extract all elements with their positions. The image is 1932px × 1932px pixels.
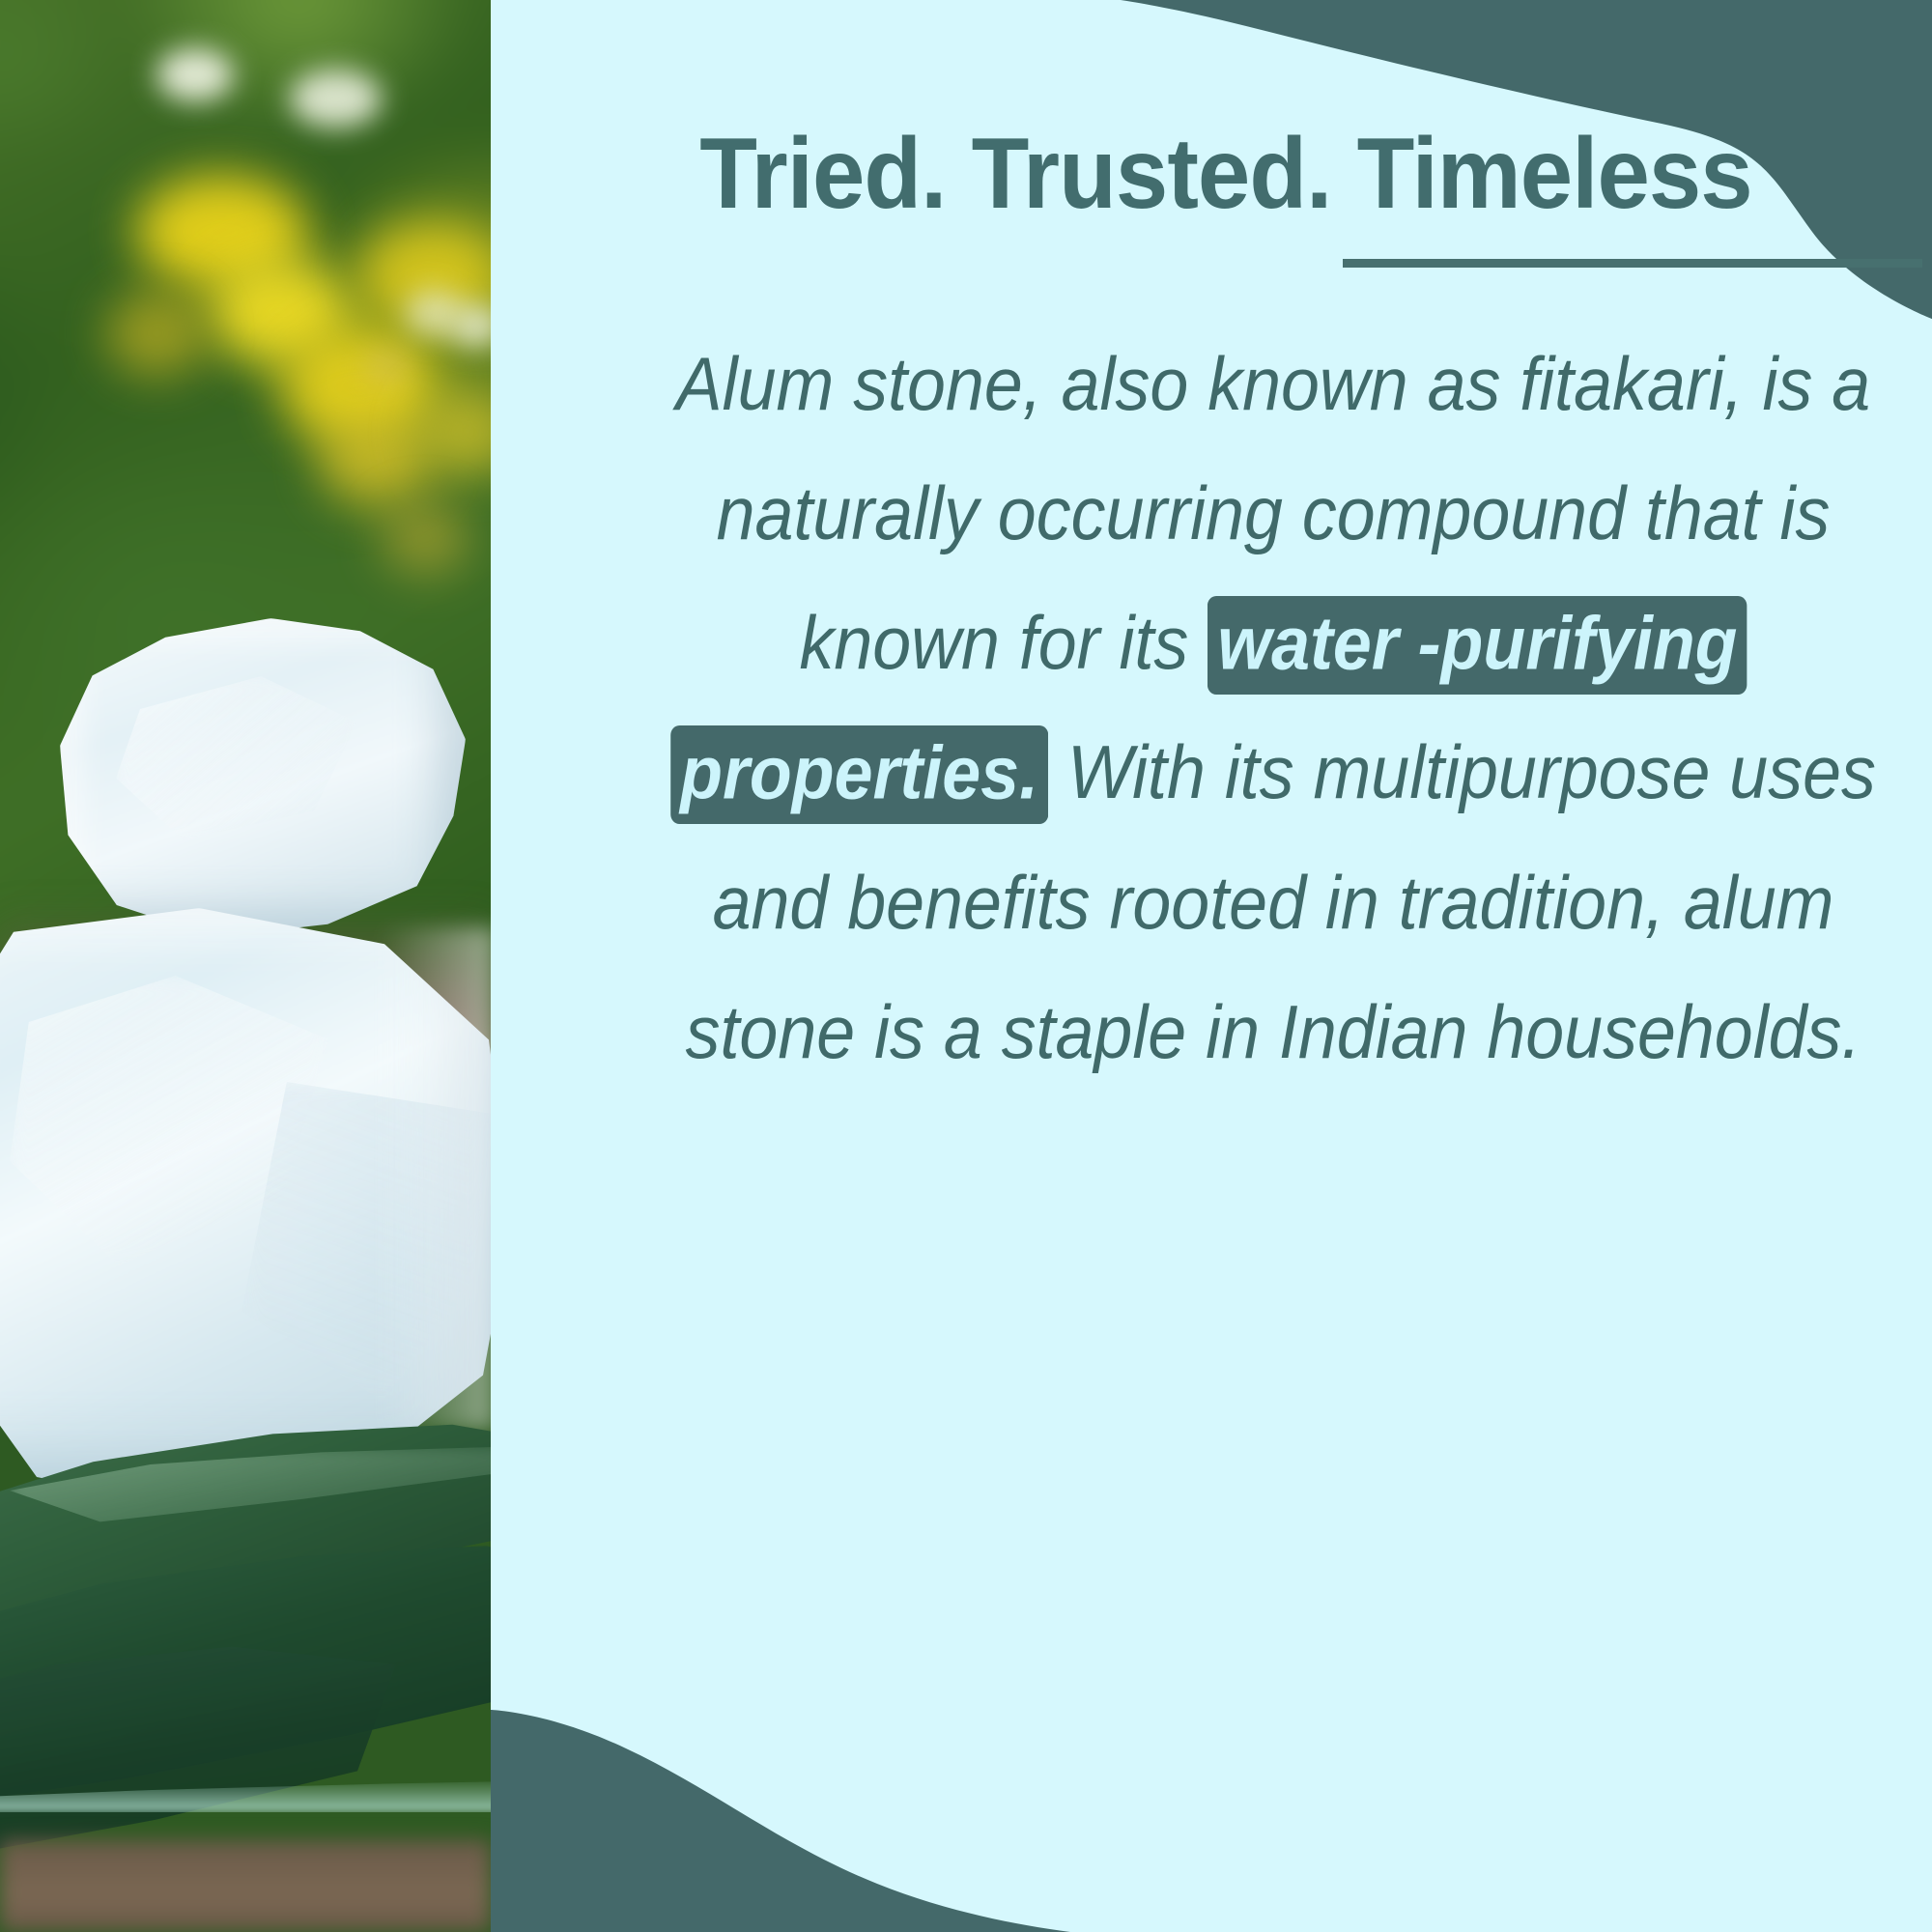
text-column: Tried. Trusted. Timeless Alum stone, als… [491, 0, 1932, 1932]
bokeh-highlight [156, 48, 234, 101]
title-underline [1343, 259, 1922, 268]
green-leaf [0, 1642, 396, 1864]
crystal-edge-highlight [379, 927, 491, 1430]
bokeh-highlight [290, 70, 382, 128]
promo-card: Tried. Trusted. Timeless Alum stone, als… [0, 0, 1932, 1932]
yellow-flower-blur [382, 502, 469, 575]
alum-stone-photo [0, 0, 491, 1932]
body-paragraph: Alum stone, also known as fitakari, is a… [668, 319, 1877, 1096]
wooden-tabletop [0, 1840, 491, 1932]
bokeh-highlight [362, 348, 411, 386]
page-title: Tried. Trusted. Timeless [562, 124, 1889, 224]
yellow-flower-blur [106, 290, 208, 377]
